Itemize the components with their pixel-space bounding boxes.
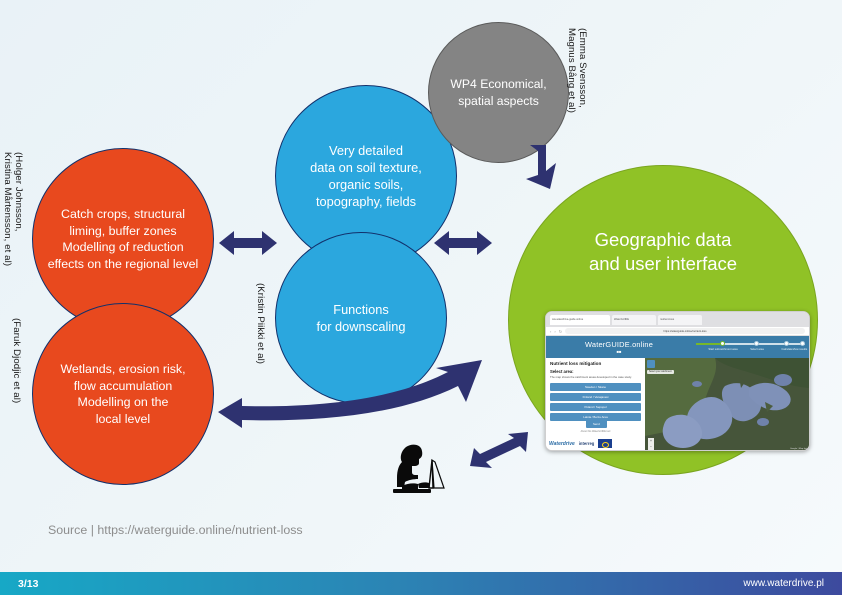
area-button[interactable]: Poland / Sepopol [550,403,641,411]
map-attribution: Google | Map data [790,448,808,450]
map-tooltip: Select your catchment [647,370,674,374]
app-heading: Nutrient loss mitigation [550,361,641,366]
stepper-dot[interactable] [754,341,759,346]
app-subheading: Select area: [550,369,641,374]
stepper-label: Calculate [781,348,792,351]
back-icon[interactable]: ‹ [550,329,551,334]
stepper-fill [696,343,722,345]
author-label-kristin-piikki: (Kristin Piikki et al) [255,283,266,364]
waterdrive-logo: Waterdrive [549,441,575,447]
reload-icon[interactable]: ↻ [559,329,562,334]
slide-canvas: Catch crops, structural liming, buffer z… [0,0,842,595]
app-note: About this WaterGUIDE tool [546,430,645,433]
node-detailed-data-text: Very detailed data on soil texture, orga… [304,142,428,210]
waterguide-browser-screenshot[interactable]: ww.waterdrive-guide.online WaterGUIDE nu… [545,311,810,451]
app-brand-block: WaterGUIDE.online ■■ [546,340,692,354]
browser-tab[interactable]: ww.waterdrive-guide.online [550,315,610,325]
stepper-label: Start subcatchment area [708,348,737,351]
area-button[interactable]: Sweden / Skane [550,383,641,391]
node-wp4-economical: WP4 Economical, spatial aspects [428,22,569,163]
down-right-arrow-icon [524,145,572,193]
interreg-logo: interreg [579,441,595,446]
website-url: www.waterdrive.pl [743,578,824,589]
app-sidebar: Nutrient loss mitigation Select area: Th… [546,358,645,450]
curved-double-arrow-icon [196,360,496,430]
progress-stepper: Start subcatchment area Select area Calc… [696,340,805,356]
app-brand: WaterGUIDE.online [546,340,692,349]
person-at-laptop-icon [388,442,458,504]
app-logo-row: Waterdrive interreg [549,439,642,448]
author-label-emma-svensson: (Emma Svensson, Magnus Bång et al) [565,28,588,113]
author-label-faruk-djodjic: (Faruk Djodjic et al) [11,318,22,403]
eu-flag-logo [598,439,612,448]
node-wetlands: Wetlands, erosion risk, flow accumulatio… [32,303,214,485]
stepper-label: Select area [750,348,764,351]
map-layer-icon[interactable] [647,360,655,368]
diagonal-double-arrow-icon [470,432,532,478]
language-flags-icon[interactable]: ■■ [546,349,692,354]
app-paragraph: The map shows the catchment areas develo… [550,376,641,380]
slide-footer: 3/13 www.waterdrive.pl [0,572,842,595]
node-wetlands-text: Wetlands, erosion risk, flow accumulatio… [54,361,191,427]
author-label-holger-johnsson: (Holger Johnsson, Kristina Mårtensson, e… [1,152,24,266]
node-geographic-data-text: Geographic data and user interface [583,228,743,277]
map-canvas[interactable]: Select your catchment + − Google | Map d… [645,358,809,450]
area-button[interactable]: Finland / Vanajavesi [550,393,641,401]
app-body: Nutrient loss mitigation Select area: Th… [546,358,809,450]
node-functions-downscaling-text: Functions for downscaling [311,301,412,335]
stepper-label: View results [793,348,807,351]
url-text[interactable]: https://waterguide.online/nutrient-loss [565,328,805,334]
app-header: WaterGUIDE.online ■■ Start subcatchment … [546,336,809,358]
browser-tab[interactable]: nutrient-loss [658,315,702,325]
browser-address-bar[interactable]: ‹ › ↻ https://waterguide.online/nutrient… [546,327,809,336]
browser-tab[interactable]: WaterGUIDE [612,315,656,325]
send-button[interactable]: Send [586,420,607,428]
browser-tabstrip: ww.waterdrive-guide.online WaterGUIDE nu… [546,312,809,327]
stepper-dot[interactable] [720,341,725,346]
forward-icon[interactable]: › [554,329,555,334]
source-caption: Source | https://waterguide.online/nutri… [48,523,303,537]
page-number: 3/13 [18,578,38,590]
node-catch-crops-text: Catch crops, structural liming, buffer z… [42,206,205,272]
stepper-dot[interactable] [800,341,805,346]
map-zoom-out-button[interactable]: − [648,444,654,450]
node-wp4-economical-text: WP4 Economical, spatial aspects [444,76,552,108]
double-headed-arrow-icon [219,228,277,258]
stepper-dot[interactable] [784,341,789,346]
double-headed-arrow-icon [434,228,492,258]
